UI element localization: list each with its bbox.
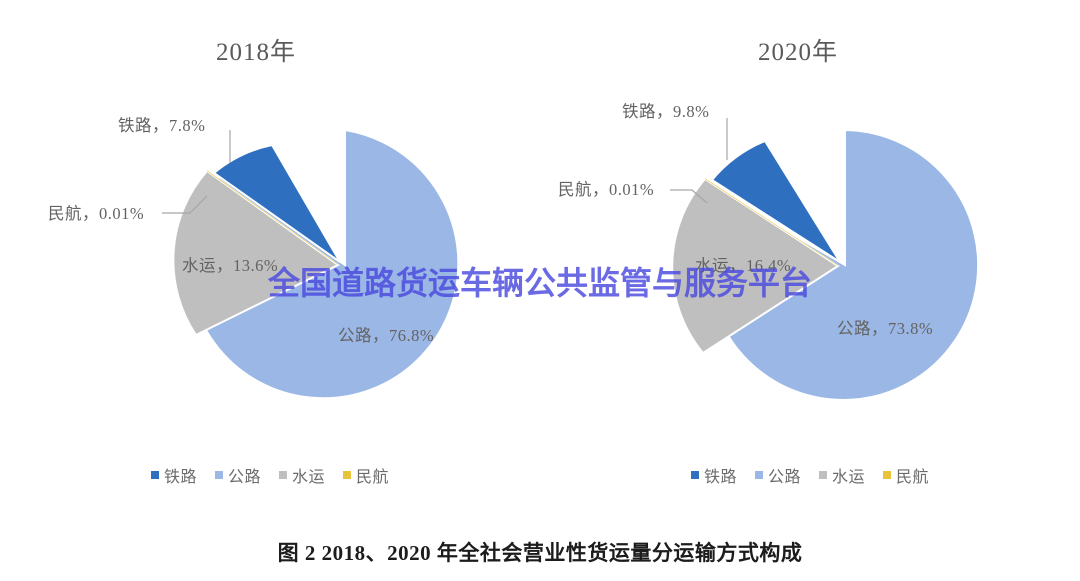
legend-swatch-water-icon xyxy=(279,471,287,479)
legend-swatch-road-icon xyxy=(755,471,763,479)
legend-label-rail: 铁路 xyxy=(164,463,197,487)
legend-swatch-air-icon xyxy=(883,471,891,479)
slice-label-water-2018: 水运，13.6% xyxy=(182,252,278,276)
legend-swatch-rail-icon xyxy=(691,471,699,479)
slice-label-road-2018: 公路，76.8% xyxy=(338,322,434,346)
legend-label-rail: 铁路 xyxy=(704,463,737,487)
legend-swatch-air-icon xyxy=(343,471,351,479)
legend-item-rail-2018[interactable]: 铁路 xyxy=(151,463,197,487)
legend-item-air-2020[interactable]: 民航 xyxy=(883,463,929,487)
legend-2020: 铁路 公路 水运 民航 xyxy=(540,463,1080,487)
legend-2018: 铁路 公路 水运 民航 xyxy=(0,463,540,487)
slice-label-air-2018: 民航，0.01% xyxy=(48,200,144,224)
pie-chart-2020: 2020年 铁路，9.8% 民航，0.01% 水运，16.4% 公路，73.8% xyxy=(540,0,1080,505)
pie-graphic-2018: 铁路，7.8% 民航，0.01% 水运，13.6% 公路，76.8% xyxy=(0,0,540,470)
legend-item-air-2018[interactable]: 民航 xyxy=(343,463,389,487)
pie-graphic-2020: 铁路，9.8% 民航，0.01% 水运，16.4% 公路，73.8% xyxy=(540,0,1080,470)
legend-swatch-rail-icon xyxy=(151,471,159,479)
pie-svg-2020 xyxy=(540,0,1080,470)
legend-label-air: 民航 xyxy=(896,463,929,487)
legend-label-road: 公路 xyxy=(768,463,801,487)
slice-label-air-2020: 民航，0.01% xyxy=(558,176,654,200)
slice-label-rail-2020: 铁路，9.8% xyxy=(622,98,709,122)
legend-swatch-water-icon xyxy=(819,471,827,479)
legend-label-water: 水运 xyxy=(832,463,865,487)
legend-item-road-2018[interactable]: 公路 xyxy=(215,463,261,487)
legend-swatch-road-icon xyxy=(215,471,223,479)
legend-label-road: 公路 xyxy=(228,463,261,487)
pie-chart-2018: 2018年 铁路，7.8% 民航，0.01% 水运，13.6% 公路，76.8% xyxy=(0,0,540,505)
slice-label-rail-2018: 铁路，7.8% xyxy=(118,112,205,136)
legend-item-road-2020[interactable]: 公路 xyxy=(755,463,801,487)
slice-label-water-2020: 水运，16.4% xyxy=(695,252,791,276)
legend-item-water-2020[interactable]: 水运 xyxy=(819,463,865,487)
legend-label-water: 水运 xyxy=(292,463,325,487)
legend-label-air: 民航 xyxy=(356,463,389,487)
figure-canvas: 2018年 铁路，7.8% 民航，0.01% 水运，13.6% 公路，76.8% xyxy=(0,0,1080,581)
pie-svg-2018 xyxy=(0,0,540,470)
slice-label-road-2020: 公路，73.8% xyxy=(837,315,933,339)
figure-caption: 图 2 2018、2020 年全社会营业性货运量分运输方式构成 xyxy=(0,537,1080,567)
legend-item-water-2018[interactable]: 水运 xyxy=(279,463,325,487)
legend-item-rail-2020[interactable]: 铁路 xyxy=(691,463,737,487)
